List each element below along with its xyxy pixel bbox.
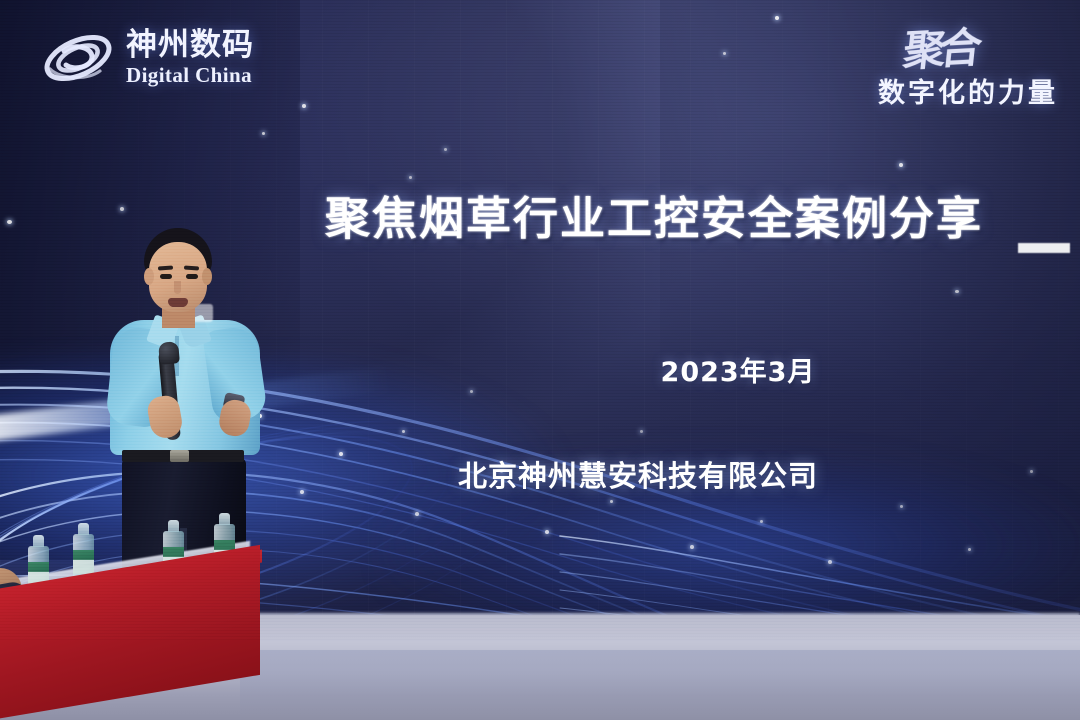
stage-floor-reflection	[240, 650, 1080, 720]
stage-photo: 神州数码 Digital China 聚合 数字化的力量 聚焦烟草行业工控安全案…	[0, 0, 1080, 720]
led-scanline-overlay	[0, 0, 1080, 640]
